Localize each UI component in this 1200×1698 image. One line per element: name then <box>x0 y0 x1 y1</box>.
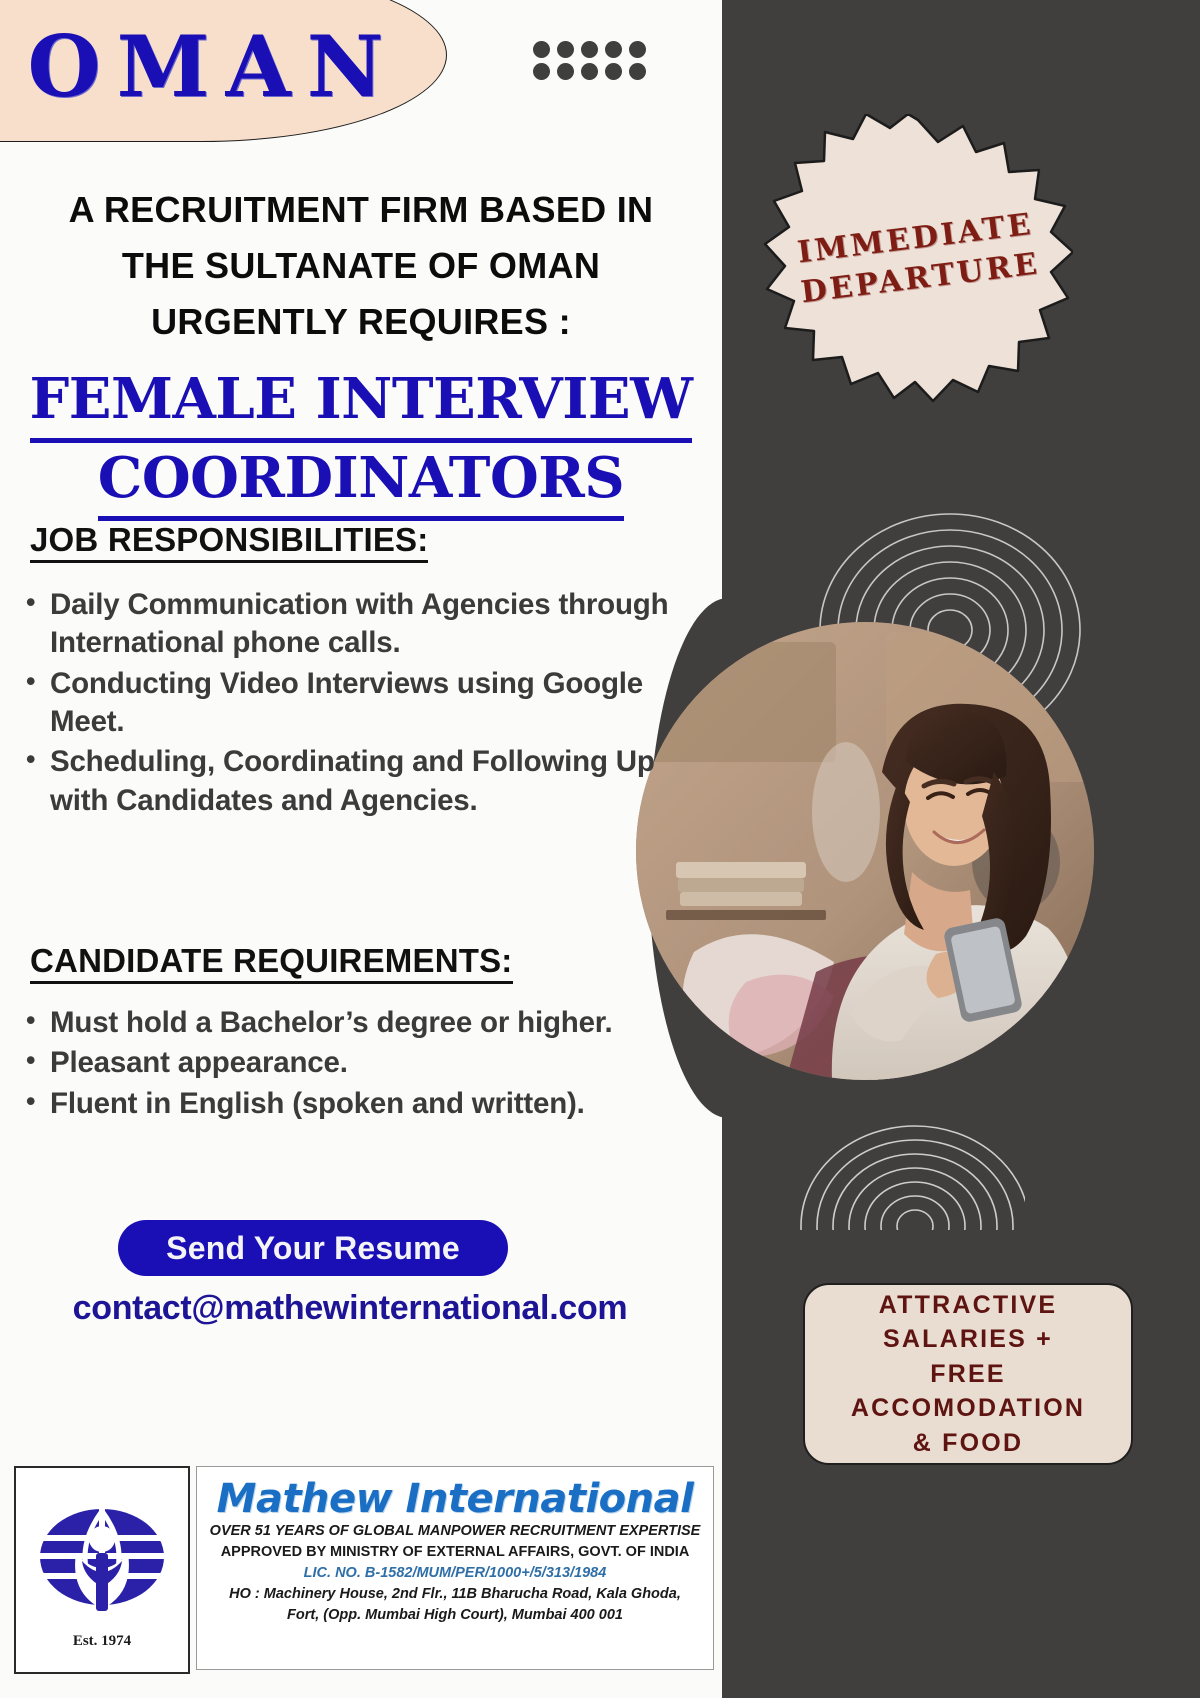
grid-dot <box>605 41 622 58</box>
country-badge-label: OMAN <box>0 0 400 116</box>
company-approval: APPROVED BY MINISTRY OF EXTERNAL AFFAIRS… <box>197 1542 713 1563</box>
responsibilities-heading-label: JOB RESPONSIBILITIES: <box>30 521 428 563</box>
responsibilities-list: Daily Communication with Agencies throug… <box>18 586 690 822</box>
grid-dot <box>629 63 646 80</box>
intro-headline: A RECRUITMENT FIRM BASED IN THE SULTANAT… <box>0 182 722 349</box>
company-info-box: Mathew International OVER 51 YEARS OF GL… <box>196 1466 714 1670</box>
responsibilities-heading: JOB RESPONSIBILITIES: <box>30 521 428 563</box>
list-item: Scheduling, Coordinating and Following U… <box>50 743 690 820</box>
perks-line-1: ATTRACTIVE <box>879 1288 1057 1323</box>
intro-line-2: THE SULTANATE OF OMAN <box>0 238 722 294</box>
list-item: Daily Communication with Agencies throug… <box>50 586 690 663</box>
company-experience: OVER 51 YEARS OF GLOBAL MANPOWER RECRUIT… <box>197 1521 713 1542</box>
immediate-departure-badge: IMMEDIATE DEPARTURE <box>763 114 1073 404</box>
grid-dot <box>629 41 646 58</box>
perks-line-4: ACCOMODATION <box>851 1391 1085 1426</box>
requirements-heading: CANDIDATE REQUIREMENTS: <box>30 942 513 984</box>
requirements-heading-label: CANDIDATE REQUIREMENTS: <box>30 942 513 984</box>
grid-dot <box>605 63 622 80</box>
grid-dot <box>581 63 598 80</box>
globe-person-logo-icon <box>32 1491 172 1631</box>
list-item: Fluent in English (spoken and written). <box>50 1085 690 1123</box>
page-title: FEMALE INTERVIEW COORDINATORS <box>0 364 722 521</box>
contact-email[interactable]: contact@mathewinternational.com <box>0 1289 700 1328</box>
perks-badge: ATTRACTIVE SALARIES + FREE ACCOMODATION … <box>803 1283 1133 1465</box>
company-license: LIC. NO. B-1582/MUM/PER/1000+/5/313/1984 <box>197 1563 713 1584</box>
perks-line-2: SALARIES + <box>883 1322 1053 1357</box>
logo-established-label: Est. 1974 <box>73 1633 131 1650</box>
intro-line-3: URGENTLY REQUIRES : <box>0 294 722 350</box>
perks-line-3: FREE <box>930 1357 1005 1392</box>
recruitment-poster: OMAN A RECRUITMENT FIRM BASED IN THE SUL… <box>0 0 1200 1698</box>
requirements-list: Must hold a Bachelor’s degree or higher.… <box>18 1004 690 1125</box>
company-address-line-1: HO : Machinery House, 2nd Flr., 11B Bhar… <box>197 1584 713 1605</box>
list-item: Pleasant appearance. <box>50 1044 690 1082</box>
job-title-line-1: FEMALE INTERVIEW <box>30 364 693 443</box>
perks-line-5: & FOOD <box>913 1426 1023 1461</box>
candidate-photo <box>636 622 1094 1080</box>
grid-dot <box>581 41 598 58</box>
dot-grid-decoration <box>533 41 653 85</box>
company-logo-box: Est. 1974 <box>14 1466 190 1674</box>
send-resume-button[interactable]: Send Your Resume <box>118 1220 508 1276</box>
immediate-departure-text: IMMEDIATE DEPARTURE <box>746 96 1089 422</box>
company-name: Mathew International <box>197 1477 713 1521</box>
grid-dot <box>557 41 574 58</box>
grid-dot <box>533 63 550 80</box>
grid-dot <box>557 63 574 80</box>
decorative-rings-bottom <box>795 1050 1025 1230</box>
list-item: Conducting Video Interviews using Google… <box>50 665 690 742</box>
job-title-line-2: COORDINATORS <box>98 443 624 522</box>
intro-line-1: A RECRUITMENT FIRM BASED IN <box>0 182 722 238</box>
list-item: Must hold a Bachelor’s degree or higher. <box>50 1004 690 1042</box>
grid-dot <box>533 41 550 58</box>
company-address-line-2: Fort, (Opp. Mumbai High Court), Mumbai 4… <box>197 1605 713 1626</box>
